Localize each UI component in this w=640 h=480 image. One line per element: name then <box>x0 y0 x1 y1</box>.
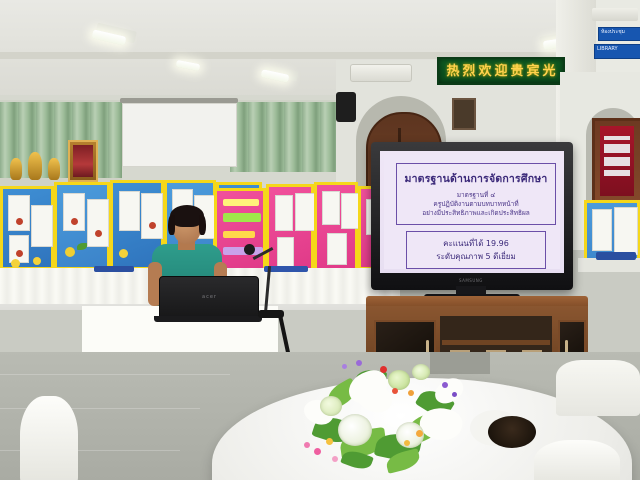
green-curtain-right <box>230 100 338 172</box>
banner-char: 迎 <box>494 65 507 78</box>
presenter-hair-side <box>168 215 175 235</box>
banquet-chair[interactable] <box>20 396 78 480</box>
banner-char: 烈 <box>462 65 475 78</box>
slide-title: มาตรฐานด้านการจัดการศึกษา <box>404 170 547 187</box>
buddha-statue <box>28 152 42 180</box>
wall-sign-2: LIBRARY <box>594 44 640 59</box>
tv-screen: มาตรฐานด้านการจัดการศึกษา มาตรฐานที่ ๔ ค… <box>380 151 564 273</box>
banner-char: 热 <box>446 65 459 78</box>
tile-seam <box>0 374 230 375</box>
wall-picture-frame <box>452 98 476 130</box>
dark-bowl <box>488 416 536 448</box>
presentation-slide: มาตรฐานด้านการจัดการศึกษา มาตรฐานที่ ๔ ค… <box>384 155 560 269</box>
slide-subtitle-1: มาตรฐานที่ ๔ <box>457 191 496 200</box>
laptop-brand-label: acer <box>202 294 217 300</box>
photograph-scene: ห้องประชุม LIBRARY 热 烈 欢 迎 贵 宾 光 <box>0 0 640 480</box>
slide-subtitle-3: อย่างมีประสิทธิภาพและเกิดประสิทธิผล <box>422 209 530 218</box>
slide-quality-line: ระดับคุณภาพ 5 ดีเยี่ยม <box>436 250 515 263</box>
air-conditioner <box>350 64 412 82</box>
green-rose <box>412 364 430 380</box>
banner-char: 宾 <box>527 65 540 78</box>
television: มาตรฐานด้านการจัดการศึกษา มาตรฐานที่ ๔ ค… <box>371 142 573 290</box>
slide-upper-box: มาตรฐานด้านการจัดการศึกษา มาตรฐานที่ ๔ ค… <box>396 163 556 225</box>
red-poster <box>600 126 634 196</box>
wall-sign-1-label: ห้องประชุม <box>599 28 640 37</box>
display-board-panel <box>54 182 110 270</box>
book-on-table <box>94 266 134 272</box>
banquet-chair-back-right[interactable] <box>556 360 640 416</box>
green-rose <box>388 370 410 390</box>
slide-subtitle-2: ครูปฏิบัติงานตามบทบาทหน้าที่ <box>433 200 518 209</box>
slide-score-line: คะแนนที่ได้ 19.96 <box>443 237 509 250</box>
wall-speaker <box>336 92 356 122</box>
slide-score-box: คะแนนที่ได้ 19.96 ระดับคุณภาพ 5 ดีเยี่ยม <box>406 231 546 269</box>
green-rose <box>320 396 342 416</box>
laptop[interactable]: acer <box>159 276 259 320</box>
display-board-panel-pink <box>266 184 314 272</box>
projection-screen <box>122 103 237 167</box>
banner-char: 光 <box>543 65 556 78</box>
tv-brand-label: SAMSUNG <box>459 278 483 283</box>
royal-portrait-frame <box>68 140 98 182</box>
display-board-panel <box>0 186 54 270</box>
chinese-welcome-banner: 热 烈 欢 迎 贵 宾 光 <box>437 57 565 85</box>
wall-sign-1: ห้องประชุม <box>598 27 640 41</box>
white-rose <box>338 414 372 446</box>
presenter-hair-side <box>199 215 206 235</box>
right-counter <box>578 258 640 272</box>
banner-char: 欢 <box>478 65 491 78</box>
air-conditioner-right <box>592 8 638 21</box>
buddha-statue <box>10 158 22 180</box>
laptop-base <box>154 316 262 322</box>
wall-sign-2-label: LIBRARY <box>595 45 640 54</box>
buddha-statue <box>48 158 60 180</box>
flower-arrangement <box>296 356 486 480</box>
display-board-panel-pink <box>314 182 358 272</box>
microphone-head <box>244 244 255 255</box>
book-stack <box>596 252 636 260</box>
banquet-chair-right[interactable] <box>534 440 620 480</box>
banner-char: 贵 <box>511 65 524 78</box>
